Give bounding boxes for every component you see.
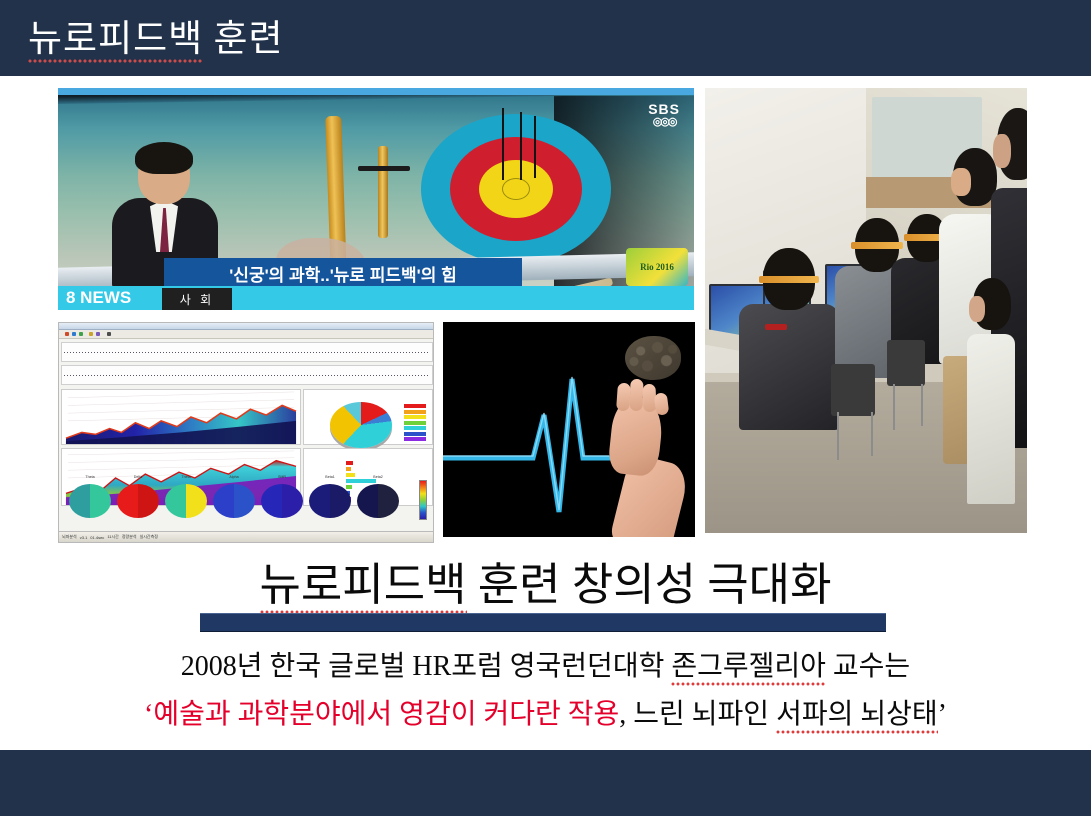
topo-label-4: SMR (261, 475, 303, 479)
finger-index (616, 383, 631, 412)
sbs-logo-text: SBS (648, 101, 680, 117)
spectrogram-surface-1 (62, 390, 300, 444)
brainwave-pulse-image (443, 322, 695, 537)
topo-label-0: Theta (69, 475, 111, 479)
topomap-2 (165, 484, 207, 518)
eeg-pie-panel (303, 389, 433, 445)
news-caption-bar: '신궁'의 과학..'뉴로 피드백'의 힘 (164, 258, 522, 288)
status-item-5: 실시간측정 (140, 534, 158, 540)
topo-label-1: Delta (117, 475, 159, 479)
olympic-rings-icon: ◎◎◎ (648, 117, 680, 129)
body-line-2-black: , 느린 뇌파인 (619, 699, 776, 730)
status-item-2: 01.4sec (90, 535, 104, 540)
toolbar-icon-5 (96, 332, 100, 336)
topomap-0 (69, 484, 111, 518)
toolbar-icon-6 (107, 332, 111, 336)
footer-band (0, 750, 1091, 816)
finger-pinky (654, 392, 670, 415)
topomap-4 (261, 484, 303, 518)
chair-2-leg-b (921, 384, 923, 426)
news-top-blue-strip (58, 88, 694, 95)
chair-1-leg-a (837, 412, 839, 460)
page-title-rest: 훈련 (203, 19, 283, 60)
standing-2-face (993, 134, 1011, 168)
body-line-2-underlined: 서파의 뇌상태 (776, 699, 938, 734)
headline-divider-bar (200, 613, 886, 632)
topomap-color-scale (419, 480, 427, 520)
anchor-hair (135, 142, 193, 174)
student-standing-3 (967, 278, 1015, 518)
chair-2 (887, 340, 925, 386)
news-broadcast-image: SBS ◎◎◎ Rio 2016 '신궁'의 과학..'뉴로 피드백'의 힘 8… (58, 88, 694, 310)
chair-1 (831, 364, 875, 416)
body-line-2-close-quote: ’ (938, 699, 947, 730)
sbs-logo: SBS ◎◎◎ (648, 102, 680, 128)
archery-target (416, 114, 616, 264)
rio-2016-logo: Rio 2016 (626, 248, 688, 286)
status-item-3: 11시간 (107, 534, 119, 540)
topo-label-2: Theta (165, 475, 207, 479)
news-program-label: 8 NEWS (66, 288, 131, 308)
brain-topomap-row: Theta Delta Theta Alpha SMR Beta1 Beta2 (59, 476, 433, 528)
toolbar-icon-2 (72, 332, 76, 336)
toolbar-icon-4 (89, 332, 93, 336)
news-bottom-bar (58, 286, 694, 310)
arrow-shaft-1 (502, 108, 504, 180)
eeg-headband-1 (759, 276, 819, 283)
hand-photo (603, 387, 687, 537)
slide-root: 뉴로피드백 훈련 SBS ◎◎◎ (0, 0, 1091, 816)
topo-label-5: Beta1 (309, 475, 351, 479)
body-line-1-part-a: 2008년 한국 글로벌 HR포럼 영국런던대학 (181, 651, 672, 682)
topo-label-3: Alpha (213, 475, 255, 479)
body-line-2-red: ‘예술과 과학분야에서 영감이 커다란 작용 (144, 699, 619, 730)
band-distribution-pie-chart (330, 402, 392, 448)
topomap-6 (357, 484, 399, 518)
bow-sight (378, 146, 388, 238)
status-item-1: v3.1 (80, 535, 88, 540)
bow-stabilizer (358, 166, 410, 171)
news-caption-text: '신궁'의 과학..'뉴로 피드백'의 힘 (229, 261, 456, 286)
brain-icon (625, 336, 681, 380)
student-seated-1 (739, 248, 839, 428)
body-line-1-part-c: 교수는 (826, 651, 910, 682)
page-title-underlined-part: 뉴로피드백 (28, 19, 203, 64)
standing-3-shirt (967, 334, 1015, 504)
eeg-titlebar (59, 323, 433, 330)
standing-1-face (951, 168, 971, 196)
arrow-shaft-2 (520, 112, 522, 180)
topo-label-6: Beta2 (357, 475, 399, 479)
topomap-5 (309, 484, 351, 518)
student-1-body (739, 304, 839, 430)
topomap-1 (117, 484, 159, 518)
student-1-lanyard (765, 324, 787, 330)
toolbar-icon-3 (79, 332, 83, 336)
classroom-training-image (705, 88, 1027, 533)
slide-headline: 뉴로피드백 훈련 창의성 극대화 (0, 548, 1091, 613)
eeg-raw-channel-panel-1 (61, 342, 433, 362)
pie-legend (404, 404, 426, 444)
body-line-2: ‘예술과 과학분야에서 영감이 커다란 작용, 느린 뇌파인 서파의 뇌상태’ (0, 692, 1091, 732)
toolbar-icon-1 (65, 332, 69, 336)
status-item-4: 정량분석 (122, 534, 137, 540)
eeg-toolbar (59, 330, 433, 339)
target-bullseye (502, 178, 530, 200)
eeg-trace-2 (64, 375, 430, 376)
page-title: 뉴로피드백 훈련 (28, 8, 284, 62)
arrow-shaft-3 (534, 116, 536, 178)
headline-underlined-part: 뉴로피드백 (260, 560, 467, 614)
eeg-raw-channel-panel-2 (61, 365, 433, 385)
body-line-1: 2008년 한국 글로벌 HR포럼 영국런던대학 존그루젤리아 교수는 (0, 644, 1091, 684)
eeg-3d-spectrogram-1 (61, 389, 301, 445)
headline-rest: 훈련 창의성 극대화 (467, 560, 832, 610)
eeg-statusbar: 뇌파분석 v3.1 01.4sec 11시간 정량분석 실시간측정 (59, 531, 433, 542)
status-item-0: 뇌파분석 (62, 534, 77, 540)
finger-middle (629, 379, 643, 411)
body-line-1-underlined: 존그루젤리아 (671, 651, 826, 686)
chair-2-leg-a (893, 384, 895, 430)
eeg-software-image: Theta Delta Theta Alpha SMR Beta1 Beta2 … (58, 322, 434, 543)
chair-1-leg-b (871, 412, 873, 456)
standing-3-face (969, 296, 985, 322)
eeg-trace-1 (64, 352, 430, 353)
topomap-3 (213, 484, 255, 518)
news-category-label: 사 회 (162, 288, 232, 310)
